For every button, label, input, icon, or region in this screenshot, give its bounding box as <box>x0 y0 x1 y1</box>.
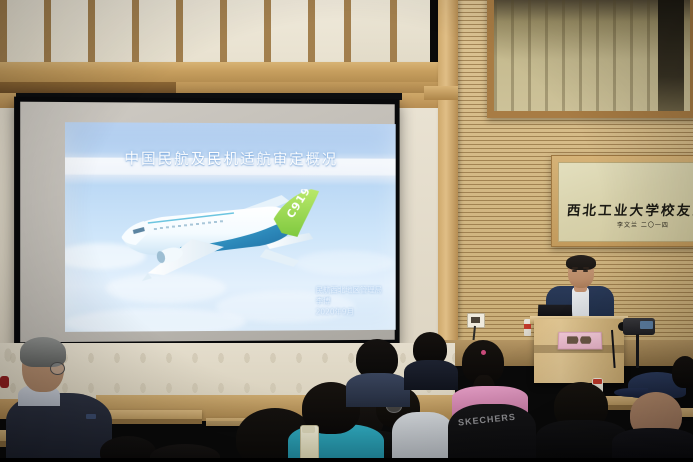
post-cap-bracket <box>424 86 458 100</box>
camera-screen <box>640 321 653 329</box>
ceiling-beam-shadow-right <box>176 82 455 93</box>
slide-credits: 民航西北地区管理局 李博 2020年9月 <box>316 286 382 319</box>
projection-screen: 中国民航及民机适航审定概况 <box>14 97 400 350</box>
podium-name-card <box>558 332 603 350</box>
bottle-cap <box>302 426 315 433</box>
plaque-text: 西北工业大学校友之家 <box>566 199 693 219</box>
audience-light-jacket <box>392 412 454 462</box>
bottle-cap <box>593 379 602 384</box>
hair-tie <box>481 350 486 355</box>
speaker-eye <box>572 270 577 272</box>
red-object <box>0 376 9 388</box>
presentation-slide: 中国民航及民机适航审定概况 <box>65 122 396 332</box>
speaker-eyebrow <box>572 267 578 269</box>
audience-person-shoulders <box>612 428 693 462</box>
vertical-wood-post <box>438 0 458 340</box>
photo-bottom-edge <box>0 458 693 462</box>
window-curtain-gap <box>658 0 684 111</box>
audience-person-head <box>672 356 693 388</box>
audience-person-shoulders <box>404 360 458 390</box>
cloud-icon <box>65 308 246 332</box>
plaque-paper: 西北工业大学校友之家 李文兰 二〇一四 <box>558 162 693 242</box>
phone-on-desk <box>86 414 96 419</box>
slide-credit-org: 民航西北地区管理局 <box>316 286 382 297</box>
calligraphy-plaque: 西北工业大学校友之家 李文兰 二〇一四 <box>551 155 693 247</box>
speaker-eyebrow <box>583 267 589 269</box>
speaker-hair <box>566 255 596 270</box>
ceiling-beam-shadow-left <box>0 82 180 93</box>
lecture-hall-photo: 西北工业大学校友之家 李文兰 二〇一四 中国民航及民机适航审定概况 <box>0 0 693 462</box>
plaque-signature: 李文兰 二〇一四 <box>617 220 669 229</box>
ceiling-beam-main <box>0 62 455 82</box>
ceiling-wood-panels-right <box>344 0 430 64</box>
screen-surface: 中国民航及民机适航审定概况 <box>20 102 395 343</box>
slide-credit-date: 2020年9月 <box>316 307 382 318</box>
slide-title: 中国民航及民机适航审定概况 <box>65 147 396 169</box>
tripod-pole <box>636 334 639 368</box>
window-frame <box>487 0 693 118</box>
audience-person-shoulders <box>346 373 410 407</box>
slide-credit-name: 李博 <box>316 297 382 308</box>
eyeglasses-icon <box>50 362 65 375</box>
speaker-eye <box>583 270 588 272</box>
aircraft-c919-illustration: C919 <box>114 189 323 295</box>
